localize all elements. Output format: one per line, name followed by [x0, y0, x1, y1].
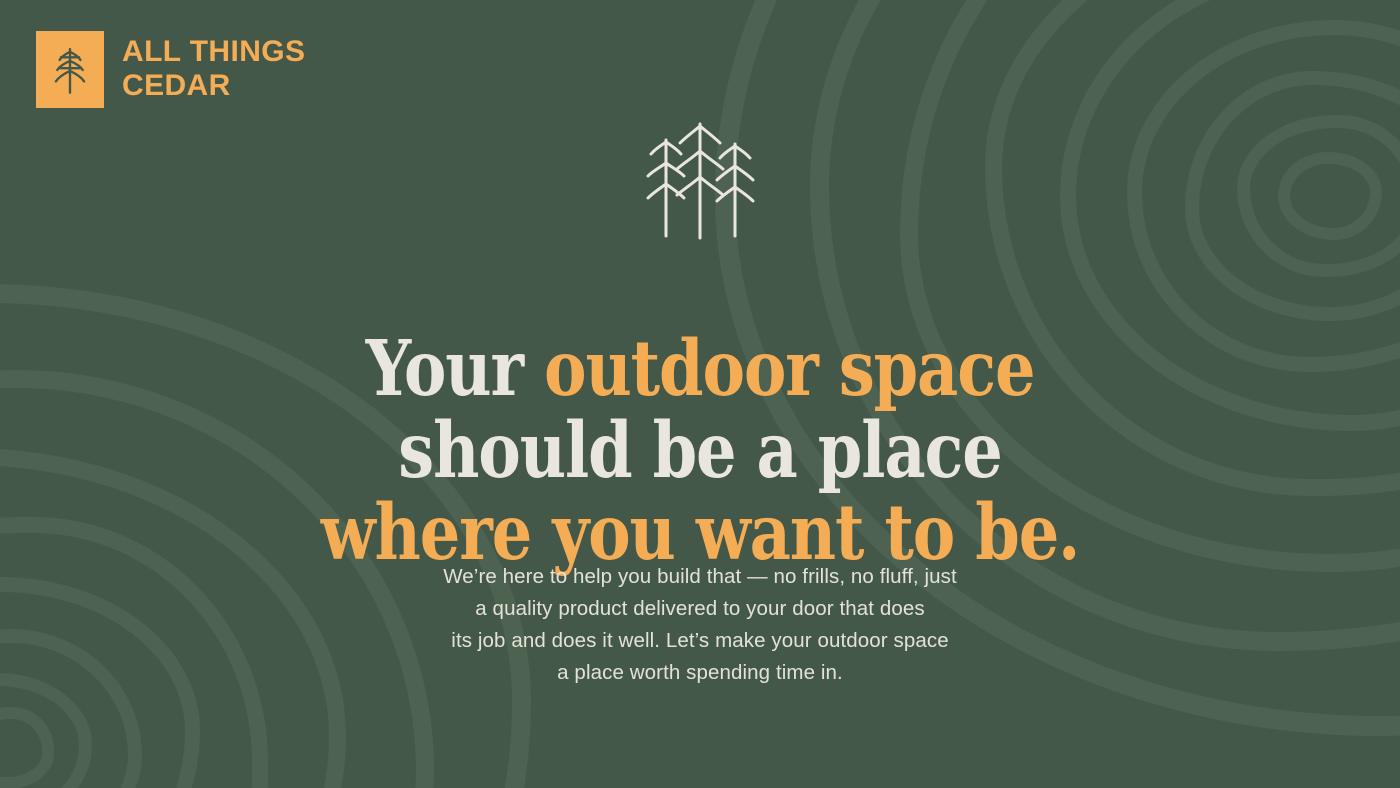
headline-segment-orange: outdoor space	[544, 324, 1034, 414]
three-pine-trees-icon	[640, 118, 760, 240]
wood-ring	[0, 707, 54, 788]
logo-mark-tile	[36, 31, 104, 108]
hero-headline: Your outdoor space should be a place whe…	[56, 328, 1344, 574]
logo-wordmark: ALL THINGS CEDAR	[122, 31, 305, 103]
hero-body-paragraph: We’re here to help you build that — no f…	[0, 561, 1400, 689]
wood-ring	[1278, 152, 1382, 240]
wood-ring	[1237, 115, 1400, 277]
hero-slide: ALL THINGS CEDAR	[0, 0, 1400, 788]
body-line-3: its job and does it well. Let’s make you…	[0, 625, 1400, 657]
pine-tree-icon	[50, 45, 90, 95]
headline-line-2: should be a place	[56, 410, 1344, 492]
headline-segment-cream: Your	[366, 324, 544, 414]
wood-ring	[1127, 20, 1400, 372]
body-line-1: We’re here to help you build that — no f…	[0, 561, 1400, 593]
brand-logo-lockup[interactable]: ALL THINGS CEDAR	[36, 31, 305, 108]
wood-ring	[1185, 71, 1400, 321]
body-line-2: a quality product delivered to your door…	[0, 593, 1400, 625]
wood-ring	[0, 673, 92, 788]
body-line-4: a place worth spending time in.	[0, 657, 1400, 689]
headline-line-1: Your outdoor space	[56, 328, 1344, 410]
